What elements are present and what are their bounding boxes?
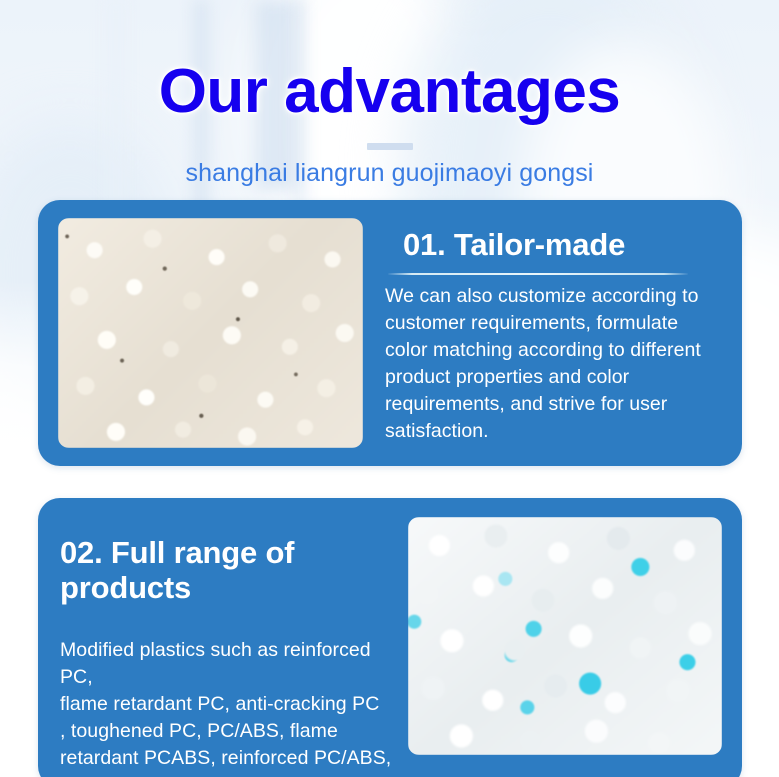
advantage-card-02: 02. Full range of products Modified plas… — [38, 498, 742, 777]
cream-pellets-photo — [58, 218, 363, 448]
advantage-card-02-body: 02. Full range of products Modified plas… — [38, 498, 408, 777]
advantage-card-02-heading: 02. Full range of products — [60, 536, 408, 605]
title-divider — [367, 143, 413, 150]
page-subtitle: shanghai liangrun guojimaoyi gongsi — [0, 159, 779, 188]
clear-pellets-photo — [408, 517, 722, 755]
advantage-card-01-heading: 01. Tailor-made — [385, 228, 736, 263]
header: Our advantages shanghai liangrun guojima… — [0, 0, 779, 188]
advantages-banner: Our advantages shanghai liangrun guojima… — [0, 0, 779, 777]
page-title: Our advantages — [0, 0, 779, 123]
advantage-card-02-image — [408, 517, 722, 755]
advantage-card-02-text: Modified plastics such as reinforced PC,… — [60, 637, 408, 777]
advantage-card-01-rule — [388, 273, 688, 275]
advantage-card-01-body: 01. Tailor-made We can also customize ac… — [363, 200, 742, 466]
advantage-card-01-text: We can also customize according to custo… — [385, 283, 736, 445]
advantage-card-01: 01. Tailor-made We can also customize ac… — [38, 200, 742, 466]
advantage-card-01-image — [58, 218, 363, 448]
